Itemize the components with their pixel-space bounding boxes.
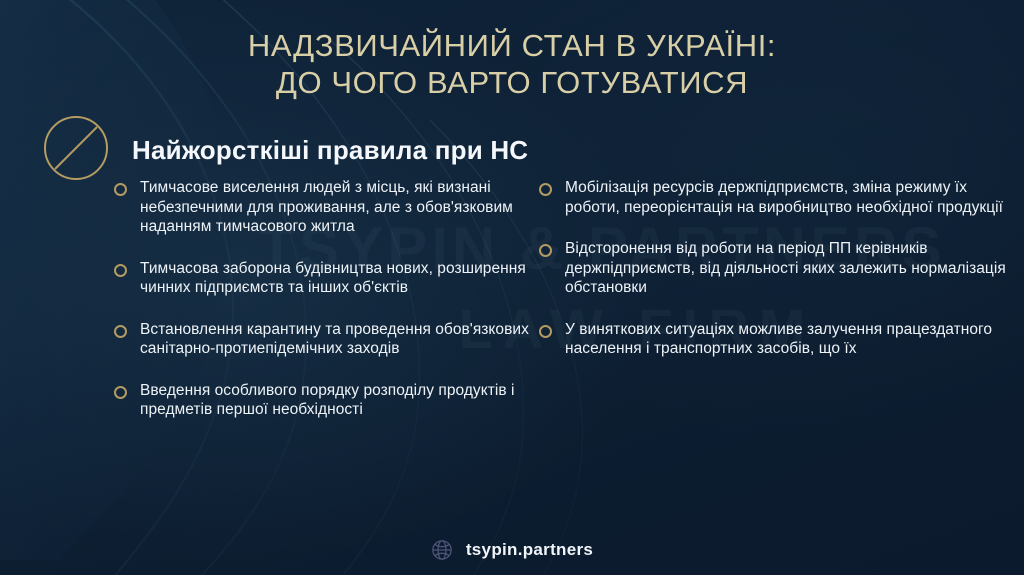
list-item: Тимчасова заборона будівництва нових, ро… (114, 259, 529, 298)
title-line-1: НАДЗВИЧАЙНИЙ СТАН В УКРАЇНІ: (0, 27, 1024, 64)
bullet-ring-icon (539, 244, 552, 257)
left-column: Тимчасове виселення людей з місць, які в… (0, 178, 535, 442)
list-item-text: Тимчасова заборона будівництва нових, ро… (140, 259, 529, 298)
bullet-ring-icon (539, 183, 552, 196)
list-item-text: Мобілізація ресурсів держпідприємств, зм… (565, 178, 1010, 217)
presentation-slide: TSYPIN & PARTNERS LAW FIRM НАДЗВИЧАЙНИЙ … (0, 0, 1024, 575)
bullet-ring-icon (114, 386, 127, 399)
list-item: У виняткових ситуаціях можливе залучення… (539, 320, 1010, 359)
list-item: Тимчасове виселення людей з місць, які в… (114, 178, 529, 237)
bullet-ring-icon (114, 325, 127, 338)
list-item: Встановлення карантину та проведення обо… (114, 320, 529, 359)
footer: tsypin.partners (0, 539, 1024, 561)
list-item-text: Встановлення карантину та проведення обо… (140, 320, 529, 359)
title-line-2: ДО ЧОГО ВАРТО ГОТУВАТИСЯ (0, 64, 1024, 101)
subtitle-row: Найжорсткіші правила при НС (42, 118, 528, 182)
globe-icon (431, 539, 453, 561)
subtitle-text: Найжорсткіші правила при НС (132, 135, 528, 165)
footer-brand-text: tsypin.partners (466, 540, 593, 560)
bullet-ring-icon (114, 264, 127, 277)
circle-slash-icon (42, 114, 110, 182)
list-item: Введення особливого порядку розподілу пр… (114, 381, 529, 420)
bullet-ring-icon (114, 183, 127, 196)
list-item-text: Тимчасове виселення людей з місць, які в… (140, 178, 529, 237)
list-item: Відсторонення від роботи на період ПП ке… (539, 239, 1010, 298)
list-item-text: У виняткових ситуаціях можливе залучення… (565, 320, 1010, 359)
list-item-text: Введення особливого порядку розподілу пр… (140, 381, 529, 420)
bullet-ring-icon (539, 325, 552, 338)
list-item: Мобілізація ресурсів держпідприємств, зм… (539, 178, 1010, 217)
list-item-text: Відсторонення від роботи на період ПП ке… (565, 239, 1010, 298)
right-column: Мобілізація ресурсів держпідприємств, зм… (535, 178, 1024, 442)
slide-title: НАДЗВИЧАЙНИЙ СТАН В УКРАЇНІ: ДО ЧОГО ВАР… (0, 27, 1024, 101)
content-columns: Тимчасове виселення людей з місць, які в… (0, 178, 1024, 442)
